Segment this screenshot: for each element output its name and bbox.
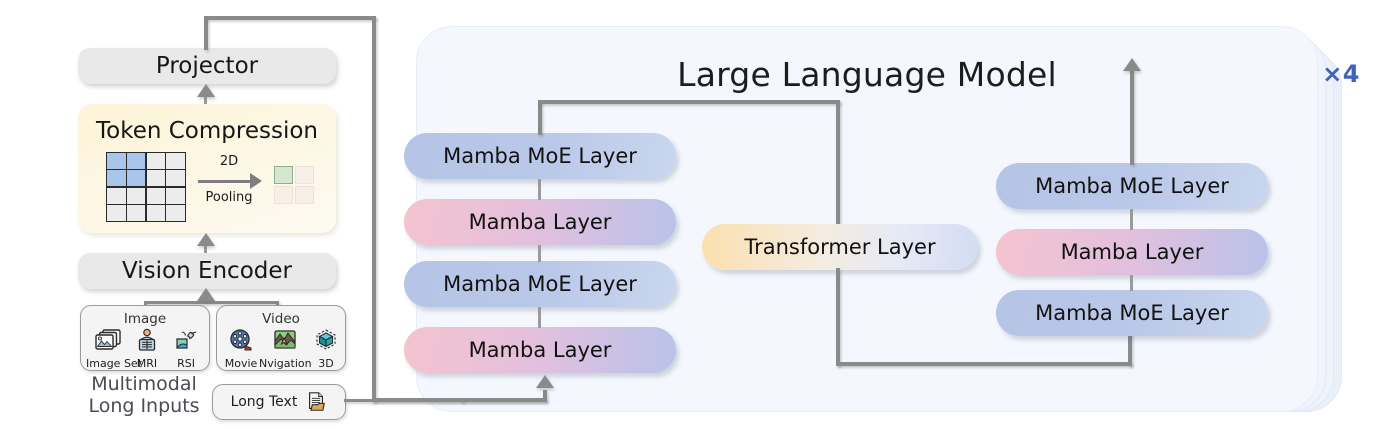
vision-encoder-card[interactable]: Vision Encoder [78, 253, 336, 289]
arrowhead-to-compression [197, 233, 215, 246]
pooling-label-bottom: Pooling [194, 190, 264, 205]
middle-layer-0[interactable]: Transformer Layer [702, 224, 978, 270]
right-layer-2[interactable]: Mamba MoE Layer [996, 290, 1268, 336]
left-layer-3[interactable]: Mamba Layer [404, 327, 676, 373]
connector-transformer-down [836, 268, 840, 366]
connector-projector-right [204, 16, 376, 20]
connector-right-1-2 [1130, 275, 1133, 291]
input-item-mri[interactable]: MRI [131, 328, 163, 370]
film-reel-icon [229, 328, 253, 352]
connector-left-top-up [538, 100, 542, 135]
satellite-icon [174, 328, 198, 352]
input-item-image-set[interactable]: Image Set [86, 328, 130, 370]
connector-projector-up [204, 18, 208, 50]
connector-projector-into-llm [372, 398, 464, 402]
connector-llm-output [1130, 70, 1134, 165]
arrowhead-to-encoder [197, 288, 215, 301]
pooling-arrowhead [250, 173, 262, 189]
video-input-group[interactable]: Video Movie Nvigation [216, 305, 346, 371]
left-layer-2[interactable]: Mamba MoE Layer [404, 261, 676, 307]
token-grid-input [106, 152, 186, 222]
connector-left-0-1 [538, 179, 541, 200]
input-label-image-set: Image Set [86, 357, 130, 370]
multimodal-label-line2: Long Inputs [78, 396, 210, 418]
image-stack-icon [94, 328, 122, 352]
token-grid-output [274, 166, 314, 204]
input-label-rsi: RSI [169, 357, 203, 370]
projector-card[interactable]: Projector [78, 48, 336, 84]
right-layer-1[interactable]: Mamba Layer [996, 229, 1268, 275]
mri-scan-icon [135, 328, 159, 352]
connector-right-0-1 [1130, 209, 1133, 230]
diagram-canvas: Large Language Model ×4 Projector Token … [0, 0, 1384, 429]
token-compression-title: Token Compression [78, 118, 336, 144]
arrowhead-llm-input [536, 375, 554, 388]
connector-transformer-right [836, 362, 1132, 366]
left-layer-1[interactable]: Mamba Layer [404, 199, 676, 245]
pooling-label-top: 2D [198, 154, 260, 169]
image-input-group[interactable]: Image Image Set MRI [80, 305, 210, 371]
arrowhead-llm-output [1123, 58, 1141, 71]
left-layer-0[interactable]: Mamba MoE Layer [404, 133, 676, 179]
map-icon [273, 328, 297, 352]
long-text-input[interactable]: Long Text [212, 384, 346, 420]
connector-down-to-transformer [836, 100, 840, 230]
input-label-mri: MRI [131, 357, 163, 370]
connector-inputs-merge [144, 301, 279, 304]
pooling-arrow-shaft [198, 180, 252, 183]
connector-projector-down [372, 16, 376, 402]
image-group-caption: Image [81, 311, 209, 327]
connector-left-2-3 [538, 307, 541, 328]
long-text-label: Long Text [231, 394, 298, 410]
input-label-movie: Movie [221, 357, 261, 370]
connector-left-top-right [538, 100, 840, 104]
input-label-3d: 3D [311, 357, 341, 370]
input-item-navigation[interactable]: Nvigation [259, 328, 311, 370]
input-label-navigation: Nvigation [259, 357, 311, 370]
cube-icon [314, 328, 338, 352]
input-item-3d[interactable]: 3D [311, 328, 341, 370]
video-group-caption: Video [217, 311, 345, 327]
connector-llm-input-horizontal [460, 398, 547, 402]
repeat-badge: ×4 [1322, 60, 1360, 88]
multimodal-inputs-label: Multimodal Long Inputs [78, 374, 210, 418]
multimodal-label-line1: Multimodal [78, 374, 210, 396]
document-icon [305, 391, 327, 413]
input-item-rsi[interactable]: RSI [169, 328, 203, 370]
token-compression-box: Token Compression 2D Pooling [78, 104, 336, 233]
llm-title: Large Language Model [417, 55, 1317, 94]
arrowhead-to-projector [197, 84, 215, 97]
input-item-movie[interactable]: Movie [221, 328, 261, 370]
right-layer-0[interactable]: Mamba MoE Layer [996, 163, 1268, 209]
connector-left-1-2 [538, 245, 541, 262]
